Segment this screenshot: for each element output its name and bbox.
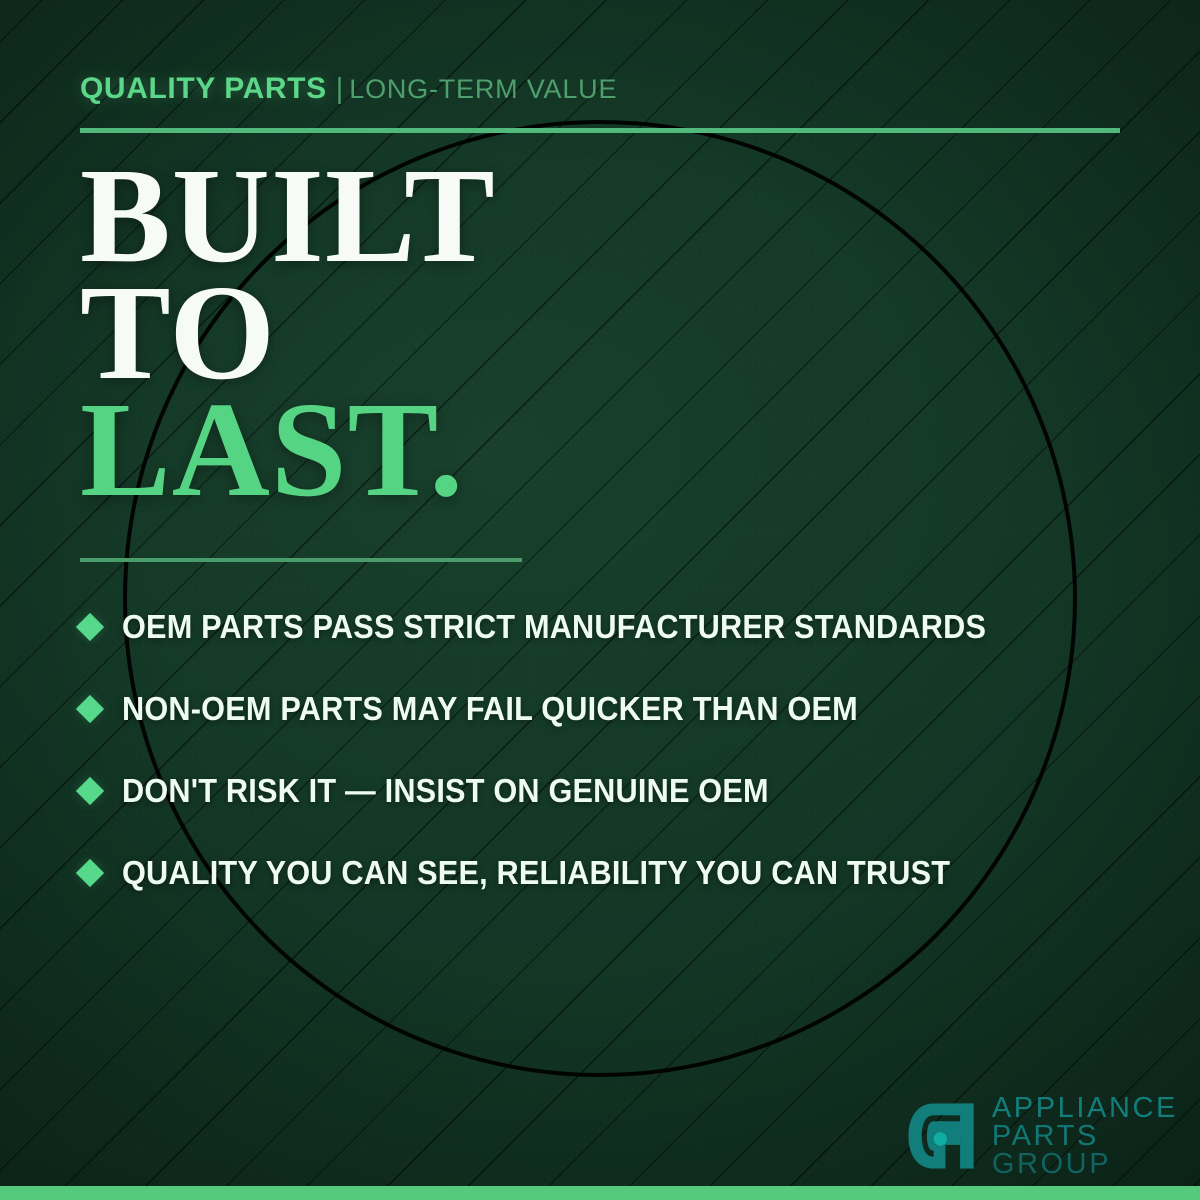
- list-item-label: DON'T RISK IT — INSIST ON GENUINE OEM: [122, 772, 769, 810]
- diamond-bullet-icon: [76, 859, 104, 887]
- brand-line-2: PARTS: [992, 1122, 1178, 1150]
- list-item: OEM PARTS PASS STRICT MANUFACTURER STAND…: [80, 586, 1140, 668]
- poster-canvas: QUALITY PARTS|LONG-TERM VALUE BUILT TO L…: [0, 0, 1200, 1200]
- eyebrow-light-text: LONG-TERM VALUE: [349, 74, 617, 104]
- header-divider-rule: [80, 128, 1120, 133]
- brand-line-3: GROUP: [992, 1150, 1178, 1178]
- diamond-bullet-icon: [76, 695, 104, 723]
- page-title: BUILT TO LAST.: [80, 158, 496, 509]
- benefits-list: OEM PARTS PASS STRICT MANUFACTURER STAND…: [80, 586, 1140, 914]
- diamond-bullet-icon: [76, 613, 104, 641]
- eyebrow-separator: |: [336, 73, 344, 105]
- list-item: NON-OEM PARTS MAY FAIL QUICKER THAN OEM: [80, 668, 1140, 750]
- brand-line-1: APPLIANCE: [992, 1094, 1178, 1122]
- headline-underline-rule: [80, 558, 522, 562]
- list-item-label: OEM PARTS PASS STRICT MANUFACTURER STAND…: [122, 608, 986, 646]
- headline-line-3: LAST.: [80, 392, 496, 509]
- eyebrow-kicker: QUALITY PARTS|LONG-TERM VALUE: [80, 74, 617, 104]
- brand-wordmark: APPLIANCE PARTS GROUP: [992, 1094, 1178, 1178]
- g-monogram-icon: [904, 1099, 978, 1173]
- list-item-label: QUALITY YOU CAN SEE, RELIABILITY YOU CAN…: [122, 854, 950, 892]
- poster-content: QUALITY PARTS|LONG-TERM VALUE BUILT TO L…: [0, 0, 1200, 1200]
- list-item: DON'T RISK IT — INSIST ON GENUINE OEM: [80, 750, 1140, 832]
- diamond-bullet-icon: [76, 777, 104, 805]
- brand-logo: APPLIANCE PARTS GROUP: [904, 1094, 1178, 1178]
- eyebrow-strong-text: QUALITY PARTS: [80, 72, 327, 105]
- list-item: QUALITY YOU CAN SEE, RELIABILITY YOU CAN…: [80, 832, 1140, 914]
- list-item-label: NON-OEM PARTS MAY FAIL QUICKER THAN OEM: [122, 690, 858, 728]
